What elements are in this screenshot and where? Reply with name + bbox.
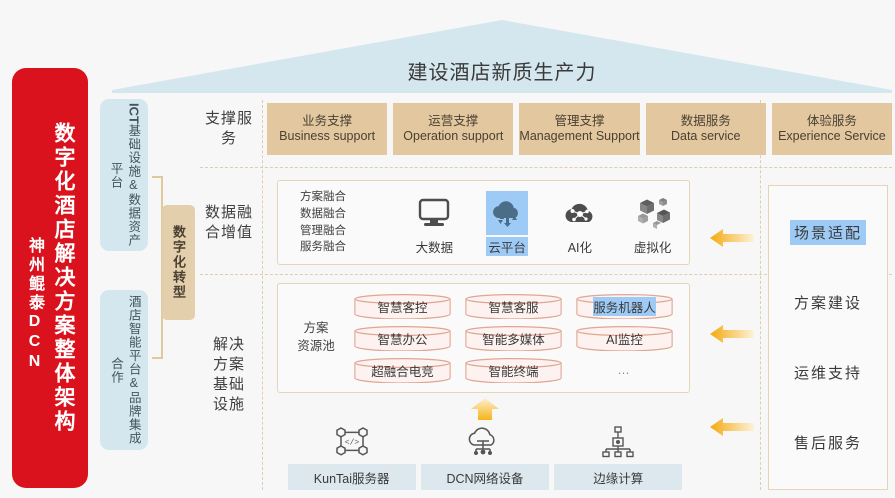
pool-item-smart-office-label: 智慧办公 (377, 329, 427, 348)
support-card-experience-cn: 体验服务 (807, 114, 857, 129)
arrow-up-icon (470, 398, 500, 420)
support-card-business-en: Business support (279, 129, 375, 144)
support-card-operation-cn: 运营支撑 (428, 114, 478, 129)
title-banner: 数字化酒店解决方案整体架构 神州鲲泰DCN (12, 68, 88, 488)
server-nodes-icon: </> (335, 420, 369, 458)
arrow-left-icon-3 (710, 418, 754, 436)
pool-item-smart-service-label: 智慧客服 (488, 297, 538, 316)
pool-item-service-robot-label: 服务机器人 (593, 297, 656, 316)
arrow-left-icon-1 (710, 229, 754, 247)
infrastructure-row: </> KunTai服务器 DCN网络设备 (285, 418, 685, 490)
right-item-solution-construction[interactable]: 方案建设 (790, 290, 866, 315)
edge-tree-icon (601, 420, 635, 458)
solution-resource-pool-panel: 方案 资源池 智慧客控 智慧客服 (277, 283, 690, 393)
fusion-item-ai-label: AI化 (568, 237, 592, 256)
pool-item-smart-multimedia[interactable]: 智能多媒体 (465, 326, 562, 351)
pool-item-smart-office[interactable]: 智慧办公 (354, 326, 451, 351)
pool-item-ai-monitoring[interactable]: AI监控 (576, 326, 673, 351)
infra-item-edge-computing-label: 边缘计算 (554, 464, 682, 490)
infra-item-kuntai-server-label: KunTai服务器 (288, 464, 416, 490)
fusion-item-bigdata[interactable]: 大数据 (401, 191, 467, 256)
fusion-item-virtualization[interactable]: 虚拟化 (620, 191, 686, 256)
support-card-management-en: Management Support (519, 129, 639, 144)
svg-text:</>: </> (344, 439, 359, 448)
pool-item-smart-room-control[interactable]: 智慧客控 (354, 294, 451, 319)
pool-item-ai-monitoring-label: AI监控 (606, 329, 643, 348)
pool-item-smart-service[interactable]: 智慧客服 (465, 294, 562, 319)
cubes-icon (632, 191, 674, 235)
row-label-fusion: 数据融合增值 (200, 178, 258, 268)
pillar-hotel-platform[interactable]: 酒店智能平台&品牌集成合作 (100, 290, 148, 450)
fusion-item-bigdata-label: 大数据 (416, 237, 454, 256)
pool-grid: 智慧客控 智慧客服 服务机器人 (354, 294, 689, 383)
banner-sub-title: 神州鲲泰DCN (22, 237, 46, 373)
pool-item-more-label: … (617, 363, 632, 377)
infra-item-dcn-network-label: DCN网络设备 (421, 464, 549, 490)
support-card-management-cn: 管理支撑 (555, 114, 605, 129)
pillar-hotel-label: 酒店智能平台&品牌集成合作 (106, 290, 142, 450)
pool-item-hyperconverged-esports[interactable]: 超融合电竞 (354, 358, 451, 383)
fusion-item-cloud[interactable]: 云平台 (474, 191, 540, 256)
support-card-data-cn: 数据服务 (681, 114, 731, 129)
fusion-item-cloud-label: 云平台 (486, 237, 528, 256)
support-card-experience-en: Experience Service (778, 129, 886, 144)
roof-title: 建设酒店新质生产力 (112, 20, 892, 93)
architecture-diagram: 数字化酒店解决方案整体架构 神州鲲泰DCN 建设酒店新质生产力 ICT基础设施&… (0, 0, 895, 498)
pool-item-smart-multimedia-label: 智能多媒体 (482, 329, 545, 348)
pillar-ict-label: ICT基础设施&数据资产平台 (106, 99, 143, 251)
pool-item-hyperconverged-esports-label: 超融合电竞 (371, 361, 434, 380)
right-item-ops-support[interactable]: 运维支持 (790, 360, 866, 385)
right-services-panel: 场景适配 方案建设 运维支持 售后服务 (768, 185, 888, 490)
support-card-management[interactable]: 管理支撑 Management Support (519, 103, 639, 155)
support-services-row: 业务支撑 Business support 运营支撑 Operation sup… (267, 103, 892, 155)
support-card-operation-en: Operation support (403, 129, 503, 144)
digital-transformation-box[interactable]: 数字化转型 (162, 205, 195, 320)
pool-item-service-robot[interactable]: 服务机器人 (576, 294, 673, 319)
infra-item-dcn-network[interactable]: DCN网络设备 (421, 420, 549, 490)
pool-label: 方案 资源池 (278, 320, 354, 356)
grid-line-v2 (760, 100, 761, 490)
support-card-data[interactable]: 数据服务 Data service (646, 103, 766, 155)
pillar-ict-platform[interactable]: ICT基础设施&数据资产平台 (100, 99, 148, 251)
roof-shape: 建设酒店新质生产力 (112, 20, 892, 93)
row-label-base-text: 解决方案基础设施 (208, 335, 250, 414)
digital-transformation-label: 数字化转型 (169, 225, 188, 300)
row-label-base: 解决方案基础设施 (200, 285, 258, 465)
ai-cloud-icon (559, 191, 601, 235)
grid-line-v1 (262, 100, 263, 490)
pool-item-smart-terminal[interactable]: 智能终端 (465, 358, 562, 383)
support-card-business-cn: 业务支撑 (302, 114, 352, 129)
support-card-data-en: Data service (671, 129, 740, 144)
monitor-icon (414, 191, 454, 235)
support-card-experience[interactable]: 体验服务 Experience Service (772, 103, 892, 155)
pillar-ict-text: 基础设施&数据资产平台 (109, 124, 141, 247)
grid-line-h1 (200, 167, 892, 168)
support-card-business[interactable]: 业务支撑 Business support (267, 103, 387, 155)
pool-item-smart-room-control-label: 智慧客控 (377, 297, 427, 316)
network-cloud-icon (465, 420, 505, 458)
support-card-operation[interactable]: 运营支撑 Operation support (393, 103, 513, 155)
pillar-ict-latin: ICT (126, 103, 141, 124)
pool-item-smart-terminal-label: 智能终端 (488, 361, 538, 380)
fusion-text-lines: 方案融合 数据融合 管理融合 服务融合 (278, 189, 398, 256)
infra-item-edge-computing[interactable]: 边缘计算 (554, 420, 682, 490)
fusion-items: 大数据 云平台 (398, 181, 689, 264)
banner-main-title: 数字化酒店解决方案整体架构 (48, 122, 78, 434)
arrow-left-icon-2 (710, 325, 754, 343)
infra-item-kuntai-server[interactable]: </> KunTai服务器 (288, 420, 416, 490)
right-item-scenario-adaptation[interactable]: 场景适配 (790, 220, 866, 245)
data-fusion-panel: 方案融合 数据融合 管理融合 服务融合 大数据 (277, 180, 690, 265)
right-item-after-sales[interactable]: 售后服务 (790, 430, 866, 455)
pool-item-more: … (576, 358, 673, 383)
fusion-item-virtualization-label: 虚拟化 (634, 237, 672, 256)
cloud-sync-icon (486, 191, 528, 235)
fusion-item-ai[interactable]: AI化 (547, 191, 613, 256)
row-label-support: 支撑服务 (200, 100, 258, 158)
